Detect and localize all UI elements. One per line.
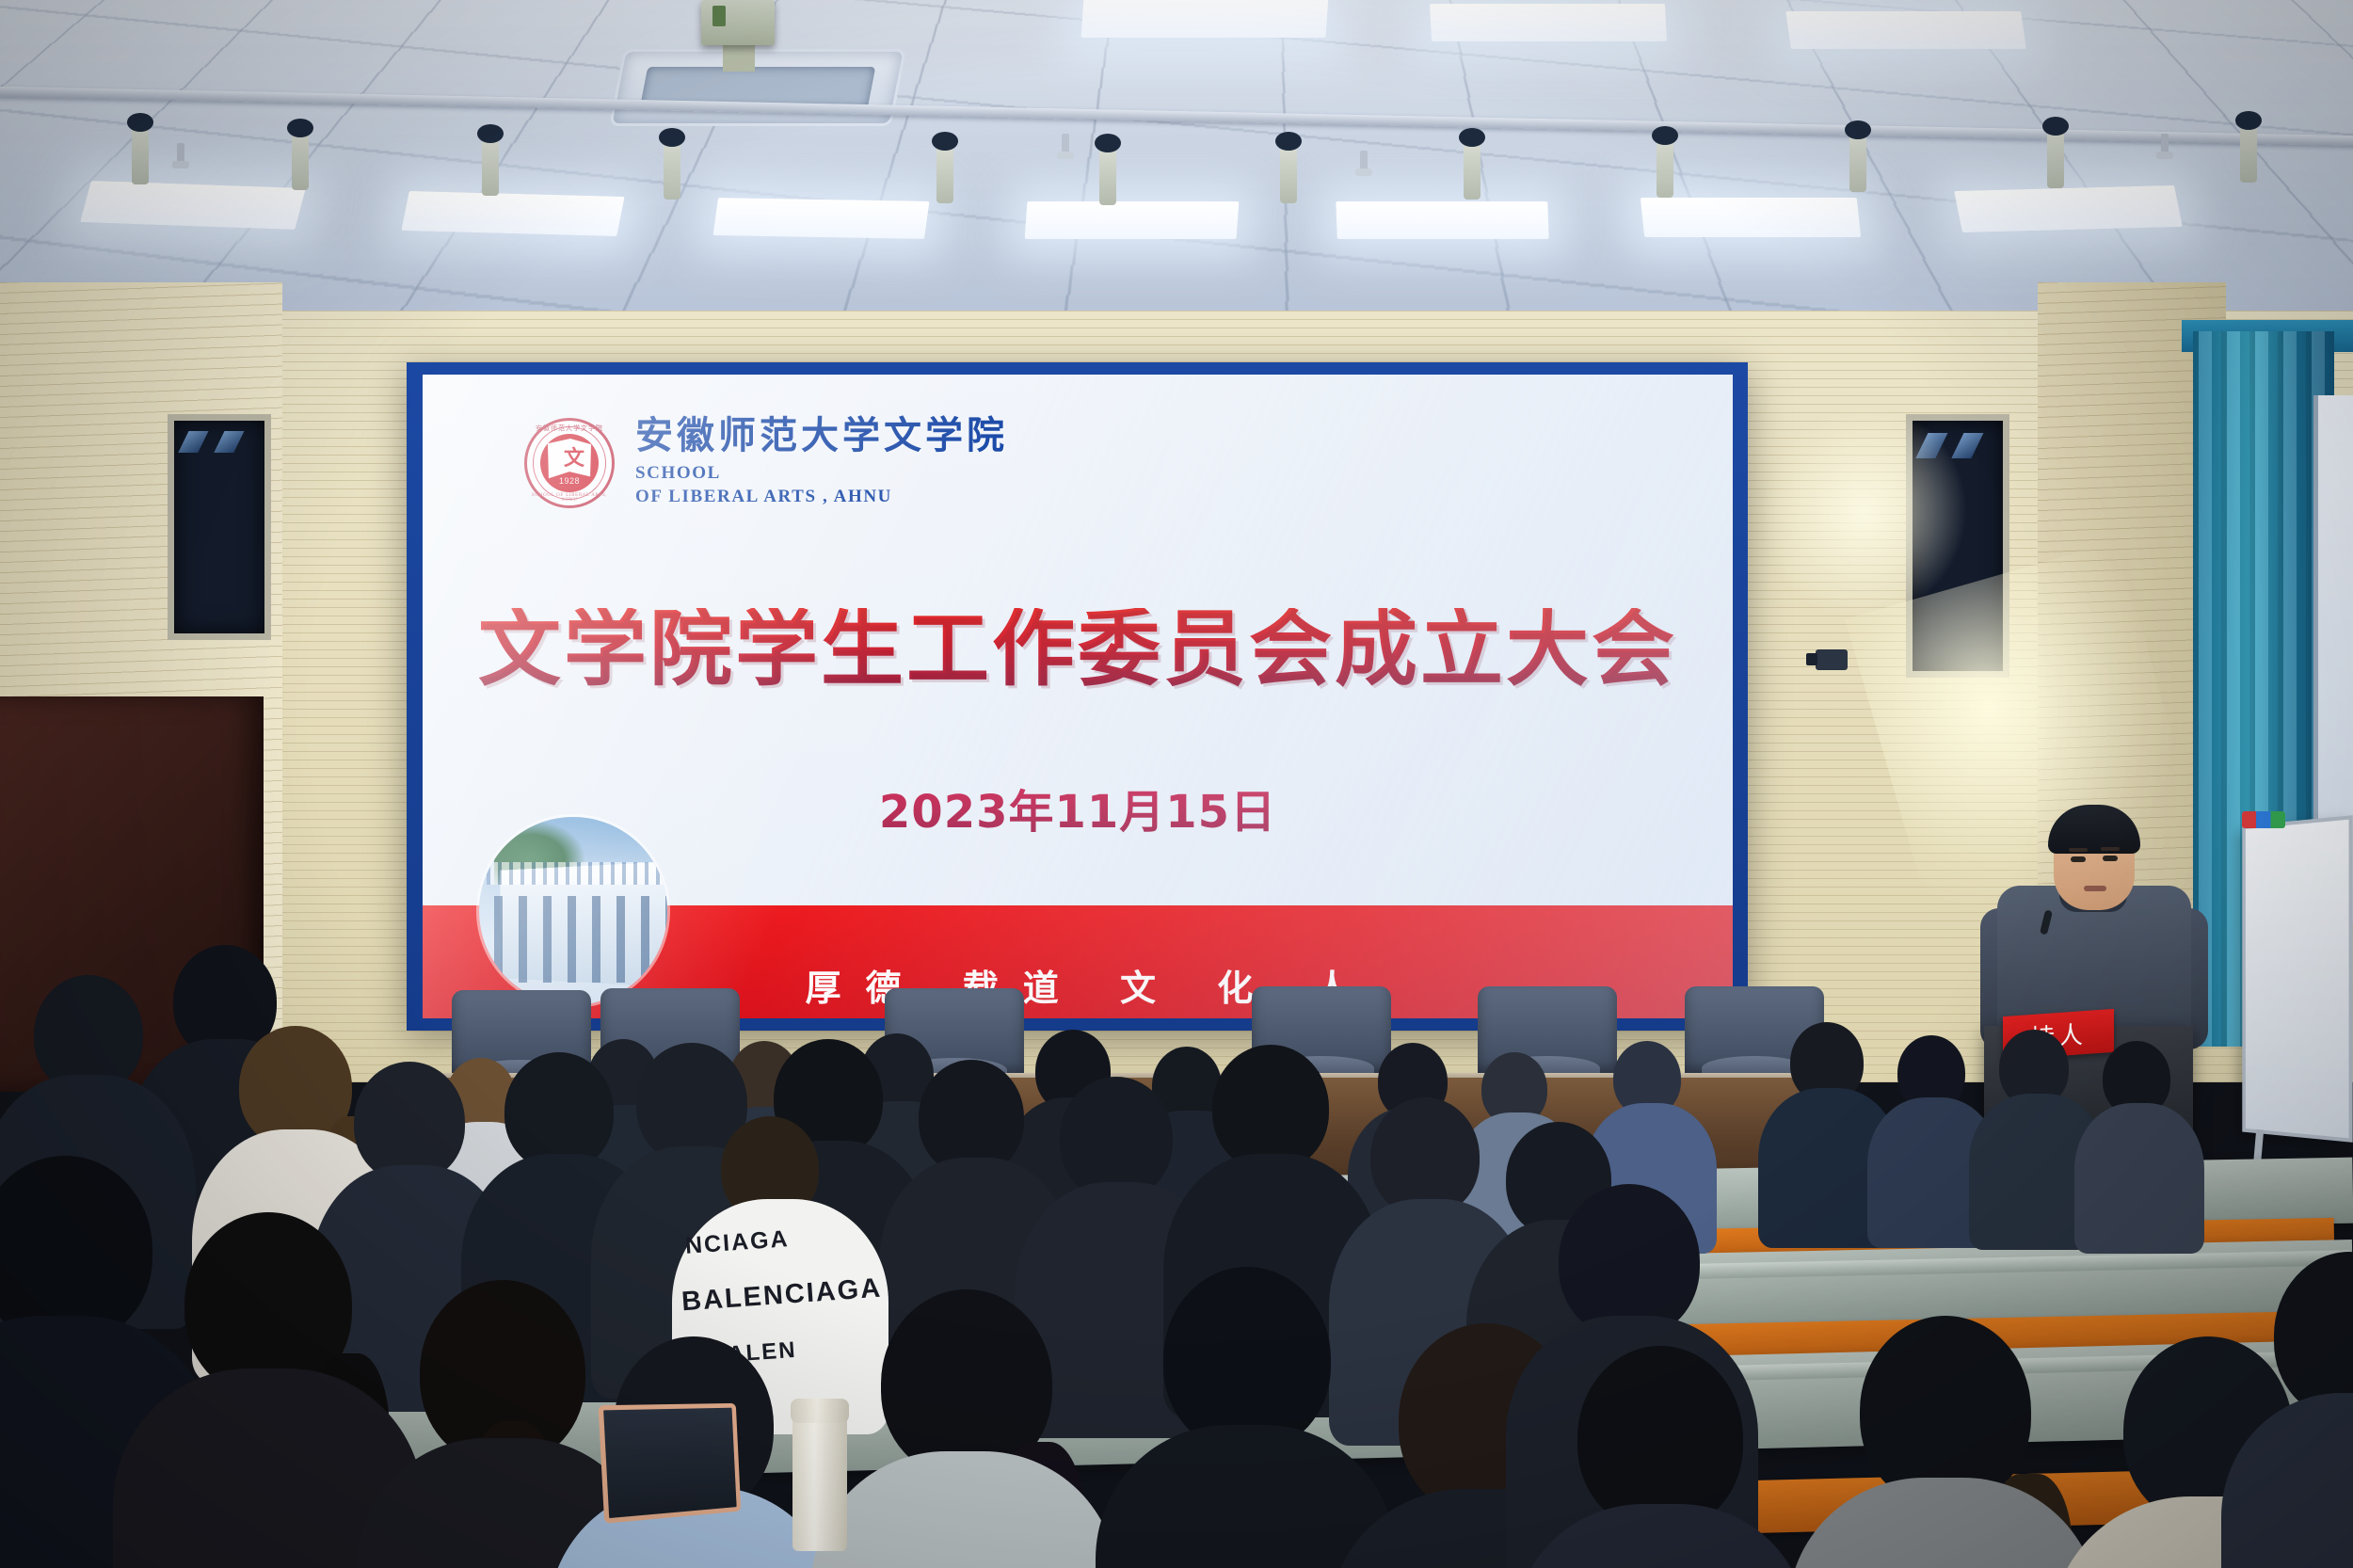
slide-title: 文学院学生工作委员会成立大会 — [423, 608, 1733, 691]
campus-photo-circle — [479, 817, 667, 1005]
security-camera — [1816, 649, 1848, 670]
ceiling-light-panel — [1025, 201, 1240, 239]
spotlight-fixture — [292, 132, 309, 190]
slide-logo-lockup: 安徽师范大学文学院 SCHOOL OF LIBERAL ARTS, AHNU 文… — [524, 417, 1008, 509]
crest-glyph-text: 文 — [564, 448, 584, 469]
spotlight-fixture — [2240, 124, 2257, 183]
campus-roofline — [487, 862, 667, 885]
ceiling-light-panel — [1336, 201, 1548, 239]
ceiling-light-panel — [401, 191, 624, 236]
institution-name-en: SCHOOL OF LIBERAL ARTS , AHNU — [635, 461, 1008, 509]
spotlight-fixture — [1657, 139, 1673, 198]
auditorium-photo: 安徽师范大学文学院 SCHOOL OF LIBERAL ARTS, AHNU 文… — [0, 0, 2353, 1568]
ceiling-light-panel — [1785, 11, 2026, 49]
institution-en-line1: SCHOOL — [635, 461, 1008, 485]
ceiling-light-panel — [1641, 198, 1861, 237]
institution-name-cn: 安徽师范大学文学院 — [635, 417, 1008, 455]
projector-mount — [723, 41, 755, 72]
spotlight-fixture — [1280, 145, 1297, 203]
sprinkler-head — [1360, 151, 1368, 171]
institution-en-line2: OF LIBERAL ARTS , AHNU — [635, 485, 1008, 508]
tablet-device[interactable] — [599, 1403, 742, 1524]
crest-arc-cn-text: 安徽师范大学文学院 — [524, 424, 615, 433]
sprinkler-head — [2161, 134, 2169, 154]
flipchart-whiteboard — [2242, 815, 2352, 1143]
projection-screen: 安徽师范大学文学院 SCHOOL OF LIBERAL ARTS, AHNU 文… — [423, 375, 1733, 1018]
ceiling-light-panel — [1954, 185, 2183, 232]
water-bottle — [792, 1410, 847, 1551]
ceiling-light-panel — [712, 198, 929, 239]
projector — [701, 0, 775, 45]
crest-arc-en-text: SCHOOL OF LIBERAL ARTS, AHNU — [524, 493, 615, 503]
wall-speaker-left — [168, 414, 271, 640]
water-bottle-cap — [791, 1399, 849, 1423]
campus-arcade — [494, 896, 667, 983]
marker-pens — [2242, 811, 2285, 828]
ceiling-light-panel — [80, 181, 306, 230]
ceiling-light-panel — [1430, 4, 1667, 41]
crest-year-text: 1928 — [524, 476, 615, 486]
spotlight-fixture — [1099, 147, 1116, 205]
spotlight-fixture — [2047, 130, 2064, 188]
university-crest-icon: 安徽师范大学文学院 SCHOOL OF LIBERAL ARTS, AHNU 文… — [524, 418, 615, 508]
spotlight-fixture — [1464, 141, 1481, 200]
spotlight-fixture — [1849, 134, 1866, 192]
spotlight-fixture — [132, 126, 149, 184]
spotlight-fixture — [664, 141, 680, 200]
ceiling-light-panel — [1080, 0, 1328, 38]
spotlight-fixture — [482, 137, 499, 196]
slide-institution-block: 安徽师范大学文学院 SCHOOL OF LIBERAL ARTS , AHNU — [635, 417, 1008, 509]
spotlight-fixture — [936, 145, 953, 203]
sprinkler-head — [1062, 134, 1069, 154]
sprinkler-head — [177, 143, 184, 164]
